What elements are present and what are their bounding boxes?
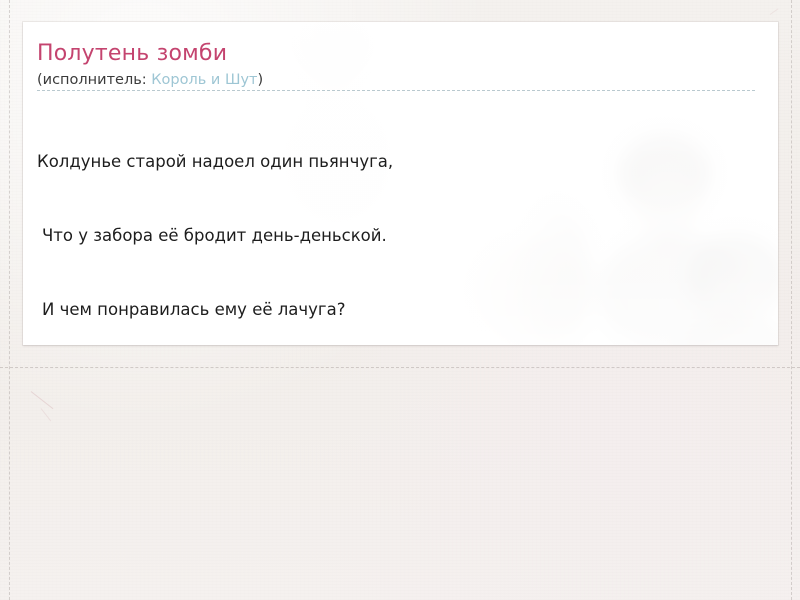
artist-line: (исполнитель: Король и Шут)	[37, 71, 263, 89]
lyrics-block: Колдунье старой надоел один пьянчуга, Чт…	[37, 101, 677, 345]
slide-panel: Полутень зомби (исполнитель: Король и Шу…	[23, 22, 778, 345]
lyric-line: Что у забора её бродит день-деньской.	[37, 224, 677, 249]
artist-suffix-label: )	[258, 72, 264, 88]
page-title: Полутень зомби	[37, 41, 227, 67]
lyric-line: Колдунье старой надоел один пьянчуга,	[37, 150, 677, 175]
artist-prefix-label: (исполнитель:	[37, 72, 151, 88]
lyric-line: И чем понравилась ему её лачуга?	[37, 298, 677, 323]
artist-link[interactable]: Король и Шут	[151, 72, 257, 88]
title-divider	[37, 90, 755, 91]
